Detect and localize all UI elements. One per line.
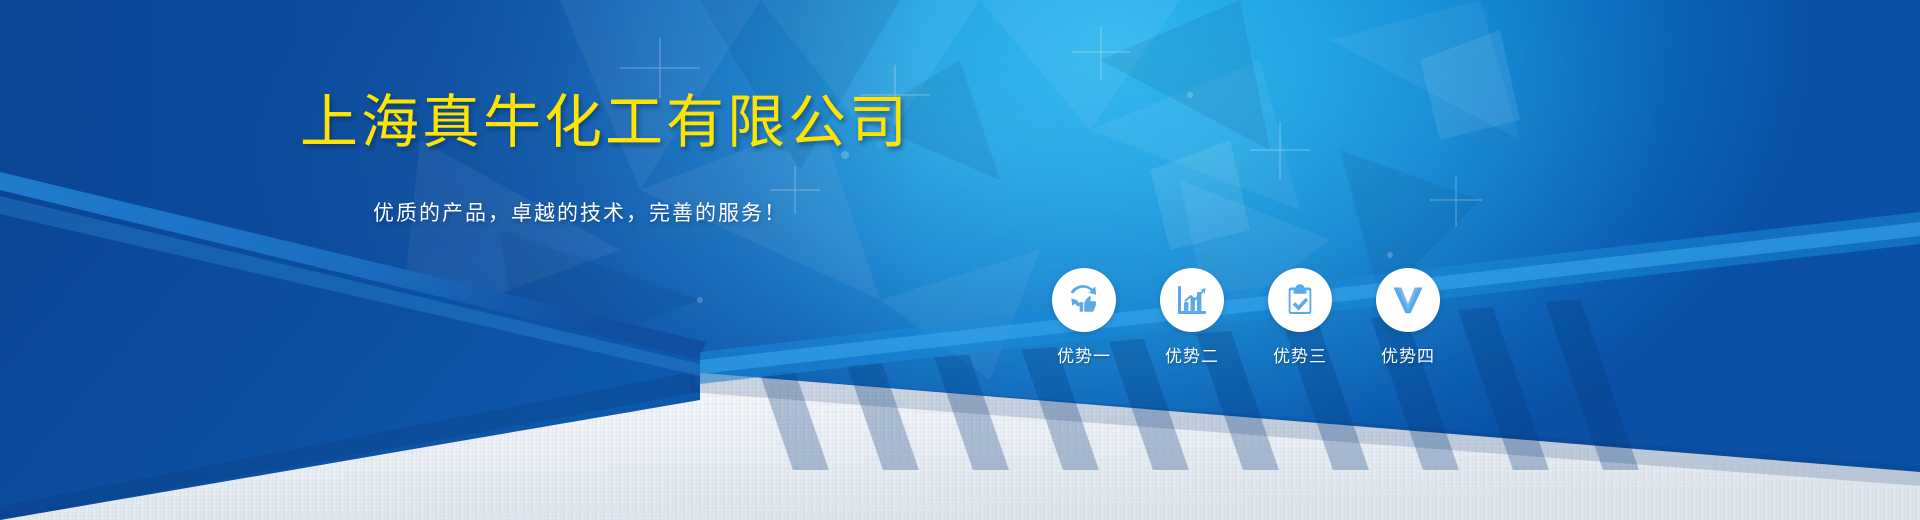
advantage-icon-circle-1 [1052, 268, 1116, 332]
refresh-thumbsup-icon [1064, 280, 1104, 320]
advantage-item-4[interactable]: 优势四 [1354, 268, 1462, 368]
v-check-icon [1388, 280, 1428, 320]
advantage-label-1: 优势一 [1057, 346, 1111, 368]
advantage-label-3: 优势三 [1273, 346, 1327, 368]
advantage-icon-circle-2 [1160, 268, 1224, 332]
advantage-icon-circle-4 [1376, 268, 1440, 332]
company-slogan: 优质的产品，卓越的技术，完善的服务！ [300, 198, 860, 228]
advantage-item-1[interactable]: 优势一 [1030, 268, 1138, 368]
advantage-item-2[interactable]: 优势二 [1138, 268, 1246, 368]
chevron-shape-group [0, 0, 1920, 520]
company-hero-banner: 上海真牛化工有限公司 优质的产品，卓越的技术，完善的服务！ 优势一 [0, 0, 1920, 520]
hero-text-block: 上海真牛化工有限公司 优质的产品，卓越的技术，完善的服务！ [300, 88, 860, 228]
advantage-item-3[interactable]: 优势三 [1246, 268, 1354, 368]
advantage-label-2: 优势二 [1165, 346, 1219, 368]
clipboard-check-icon [1280, 280, 1320, 320]
advantage-icon-circle-3 [1268, 268, 1332, 332]
advantage-label-4: 优势四 [1381, 346, 1435, 368]
advantages-list: 优势一 优势二 [1030, 268, 1462, 368]
bar-chart-growth-icon [1172, 280, 1212, 320]
page-title: 上海真牛化工有限公司 [300, 88, 860, 156]
